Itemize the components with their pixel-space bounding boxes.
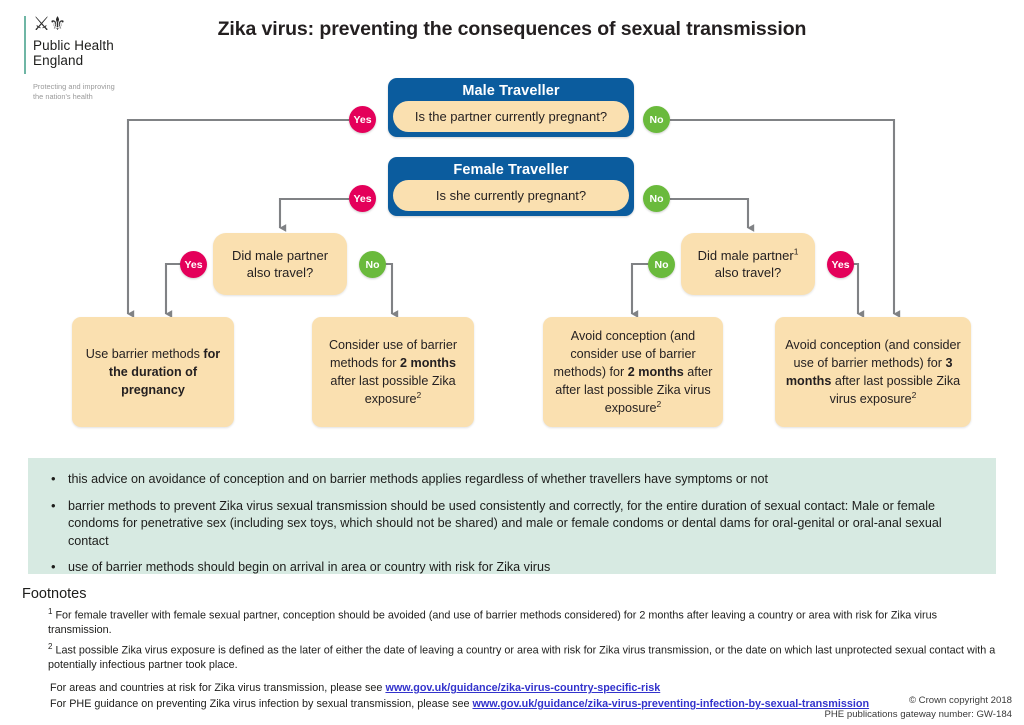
outcome-text: Use barrier methods for the duration of … xyxy=(81,345,225,399)
advice-bullet: this advice on avoidance of conception a… xyxy=(68,471,970,489)
outcome-emphasis: 2 months xyxy=(400,356,456,370)
outcome-segment: after last possible Zika virus exposure xyxy=(830,374,960,406)
outcome-emphasis: 2 months xyxy=(628,365,684,379)
outcome-footnote-marker: 2 xyxy=(912,390,917,400)
node-female-traveller[interactable]: Female Traveller Is she currently pregna… xyxy=(388,157,634,216)
footnote-text: Last possible Zika virus exposure is def… xyxy=(48,644,995,671)
male-traveller-header: Male Traveller xyxy=(393,82,629,101)
decision-right-text: Did male partner1 also travel? xyxy=(698,247,799,281)
badge-decision-right-no[interactable]: No xyxy=(648,251,675,278)
footnote-item: 2 Last possible Zika virus exposure is d… xyxy=(22,640,1002,673)
decision-right-line1: Did male partner xyxy=(698,248,794,263)
node-decision-right[interactable]: Did male partner1 also travel? xyxy=(681,233,815,295)
badge-male-no[interactable]: No xyxy=(643,106,670,133)
decision-right-footnote-marker: 1 xyxy=(794,247,799,257)
badge-decision-left-no[interactable]: No xyxy=(359,251,386,278)
guidance-links: For areas and countries at risk for Zika… xyxy=(50,680,880,712)
footnote-marker: 1 xyxy=(48,607,52,616)
footnote-marker: 2 xyxy=(48,642,52,651)
footnote-item: 1 For female traveller with female sexua… xyxy=(22,605,1002,638)
guidance-link-lead: For PHE guidance on preventing Zika viru… xyxy=(50,698,473,710)
outcome-box[interactable]: Use barrier methods for the duration of … xyxy=(72,317,234,427)
decision-left-text: Did male partner also travel? xyxy=(232,247,328,281)
footnotes-section: Footnotes 1 For female traveller with fe… xyxy=(22,586,1002,674)
badge-male-yes[interactable]: Yes xyxy=(349,106,376,133)
guidance-link-lead: For areas and countries at risk for Zika… xyxy=(50,682,385,694)
outcome-text: Avoid conception (and consider use of ba… xyxy=(552,327,714,417)
guidance-link-url[interactable]: www.gov.uk/guidance/zika-virus-country-s… xyxy=(385,682,660,694)
badge-female-no[interactable]: No xyxy=(643,185,670,212)
decision-left-line2: also travel? xyxy=(247,265,313,280)
outcome-box[interactable]: Consider use of barrier methods for 2 mo… xyxy=(312,317,474,427)
outcome-footnote-marker: 2 xyxy=(417,390,422,400)
advice-panel: this advice on avoidance of conception a… xyxy=(28,458,996,574)
female-traveller-header: Female Traveller xyxy=(393,161,629,180)
outcome-text: Consider use of barrier methods for 2 mo… xyxy=(321,336,465,408)
badge-decision-left-yes[interactable]: Yes xyxy=(180,251,207,278)
outcome-footnote-marker: 2 xyxy=(657,399,662,409)
footnote-text: For female traveller with female sexual … xyxy=(48,610,937,637)
decision-left-line1: Did male partner xyxy=(232,248,328,263)
badge-female-yes[interactable]: Yes xyxy=(349,185,376,212)
badge-decision-right-yes[interactable]: Yes xyxy=(827,251,854,278)
node-decision-left[interactable]: Did male partner also travel? xyxy=(213,233,347,295)
guidance-link-line: For areas and countries at risk for Zika… xyxy=(50,680,880,696)
outcome-segment: after last possible Zika exposure xyxy=(330,374,455,406)
advice-bullet: barrier methods to prevent Zika virus se… xyxy=(68,498,970,551)
outcome-segment: Use barrier methods xyxy=(86,347,204,361)
flowchart: Male Traveller Is the partner currently … xyxy=(0,0,1024,455)
footer-meta: © Crown copyright 2018 PHE publications … xyxy=(824,694,1012,722)
guidance-link-url[interactable]: www.gov.uk/guidance/zika-virus-preventin… xyxy=(473,698,870,710)
outcome-box[interactable]: Avoid conception (and consider use of ba… xyxy=(543,317,723,427)
footnotes-heading: Footnotes xyxy=(22,586,1002,602)
node-male-traveller[interactable]: Male Traveller Is the partner currently … xyxy=(388,78,634,137)
gateway-number: PHE publications gateway number: GW-184 xyxy=(824,708,1012,722)
decision-right-line2: also travel? xyxy=(715,265,781,280)
female-traveller-question: Is she currently pregnant? xyxy=(393,180,629,211)
guidance-link-line: For PHE guidance on preventing Zika viru… xyxy=(50,696,880,712)
male-traveller-question: Is the partner currently pregnant? xyxy=(393,101,629,132)
outcome-text: Avoid conception (and consider use of ba… xyxy=(784,336,962,408)
outcome-segment: Avoid conception (and consider use of ba… xyxy=(785,338,961,370)
outcome-box[interactable]: Avoid conception (and consider use of ba… xyxy=(775,317,971,427)
advice-bullet-list: this advice on avoidance of conception a… xyxy=(28,458,996,577)
advice-bullet: use of barrier methods should begin on a… xyxy=(68,559,970,577)
copyright-text: © Crown copyright 2018 xyxy=(824,694,1012,708)
